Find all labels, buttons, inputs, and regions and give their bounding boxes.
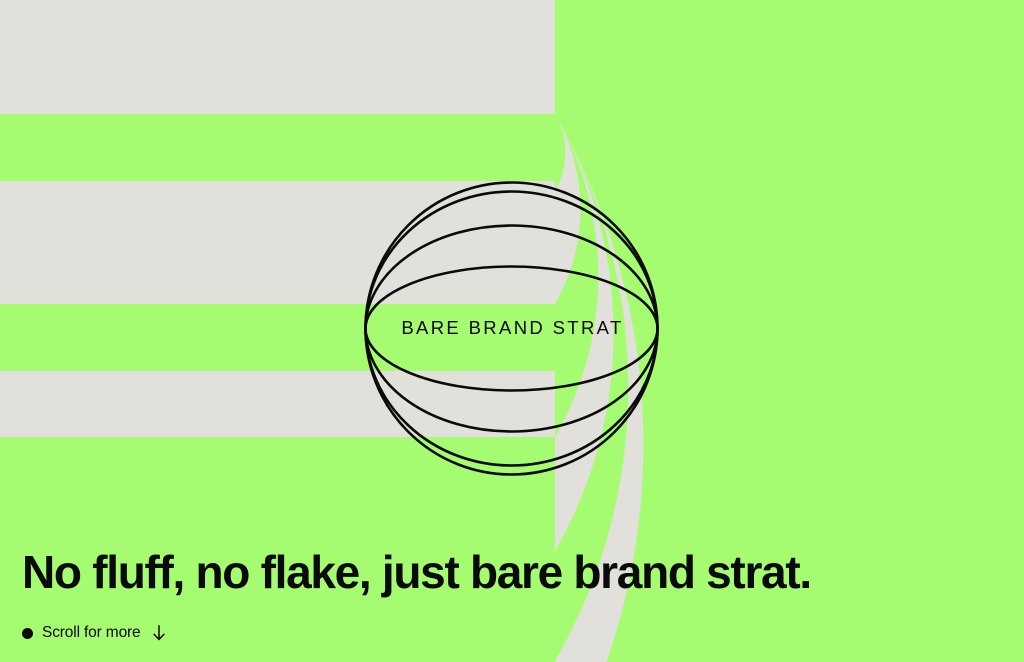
hero-headline: No fluff, no flake, just bare brand stra…: [22, 548, 811, 596]
logo-meridian-2: [366, 226, 658, 432]
ring-band-green-a: [0, 114, 555, 181]
logo-meridian-3: [366, 267, 658, 391]
sphere-globe-icon: [364, 181, 659, 476]
arrow-down-icon: [152, 625, 166, 641]
ring-top-cap-grey: [0, 0, 555, 114]
hero-stage: BARE BRAND STRAT No fluff, no flake, jus…: [0, 0, 1024, 662]
scroll-for-more-cue[interactable]: Scroll for more: [22, 622, 166, 644]
scroll-cue-label: Scroll for more: [42, 625, 141, 641]
logo-meridian-1: [366, 192, 658, 466]
bullet-dot-icon: [22, 628, 33, 639]
